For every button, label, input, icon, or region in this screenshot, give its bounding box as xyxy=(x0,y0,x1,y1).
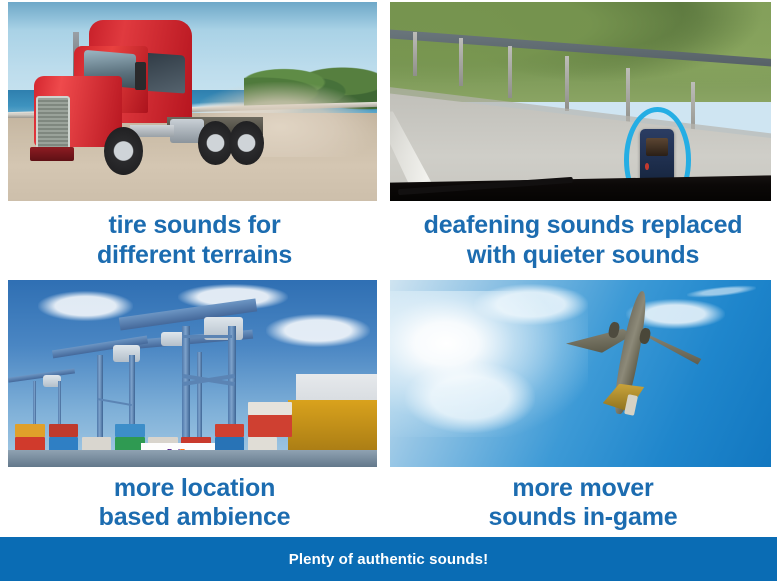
guardrail-post xyxy=(413,32,417,76)
rear-wheel-1 xyxy=(198,121,233,165)
crane-leg xyxy=(197,352,202,448)
crane-top-brace xyxy=(182,335,232,339)
crane-boom xyxy=(8,368,75,382)
crane-machine-house xyxy=(113,345,140,361)
caption-line-1: more location xyxy=(114,474,275,502)
feature-caption-location-ambience: more location based ambience xyxy=(0,467,389,537)
shipping-container xyxy=(15,424,45,437)
road-pov-art xyxy=(390,2,771,201)
caption-line-2: with quieter sounds xyxy=(467,241,699,269)
shipping-container xyxy=(115,424,145,437)
airplane-tailplane xyxy=(603,384,644,412)
truck-scene-art xyxy=(8,2,377,201)
sun-glare xyxy=(390,291,588,437)
feature-cell-deafening-sounds[interactable]: deafening sounds replaced with quieter s… xyxy=(389,0,777,278)
feature-poster: tire sounds for different terrains xyxy=(0,0,777,581)
airplane-sky-image xyxy=(390,280,771,467)
feature-cell-tire-sounds[interactable]: tire sounds for different terrains xyxy=(0,0,389,278)
shipping-container xyxy=(49,424,79,437)
truck-grille xyxy=(36,96,70,152)
caption-line-2: sounds in-game xyxy=(489,503,678,531)
caption-line-1: more mover xyxy=(512,474,653,502)
road-pov-image xyxy=(390,2,771,201)
feature-caption-mover-sounds: more mover sounds in-game xyxy=(389,467,777,537)
feature-cell-location-ambience[interactable]: FedEx more location based ambience xyxy=(0,278,389,537)
caption-line-1: tire sounds for xyxy=(108,211,280,239)
caption-line-2: based ambience xyxy=(99,503,291,531)
truck-scene-image xyxy=(8,2,377,201)
guardrail-post xyxy=(508,46,512,98)
guardrail-post xyxy=(459,38,463,86)
feature-grid: tire sounds for different terrains xyxy=(0,0,777,537)
caption-line-1: deafening sounds replaced xyxy=(424,211,743,239)
front-wheel xyxy=(104,127,143,175)
dock-surface xyxy=(8,450,377,467)
shipping-container xyxy=(248,402,292,415)
shipping-container xyxy=(215,424,245,437)
shipping-container xyxy=(248,415,292,437)
bottom-banner: Plenty of authentic sounds! xyxy=(0,537,777,581)
side-mirror-icon xyxy=(135,62,146,90)
guardrail-post xyxy=(565,56,569,112)
banner-text: Plenty of authentic sounds! xyxy=(289,551,488,568)
feature-cell-mover-sounds[interactable]: more mover sounds in-game xyxy=(389,278,777,537)
airplane-icon xyxy=(569,287,699,433)
port-crane-image: FedEx xyxy=(8,280,377,467)
port-crane-art: FedEx xyxy=(8,280,377,467)
feature-caption-tire-sounds: tire sounds for different terrains xyxy=(0,201,389,278)
caption-line-2: different terrains xyxy=(97,241,292,269)
airplane-sky-art xyxy=(390,280,771,467)
feature-caption-deafening-sounds: deafening sounds replaced with quieter s… xyxy=(389,201,777,278)
truck-bumper xyxy=(30,147,74,161)
